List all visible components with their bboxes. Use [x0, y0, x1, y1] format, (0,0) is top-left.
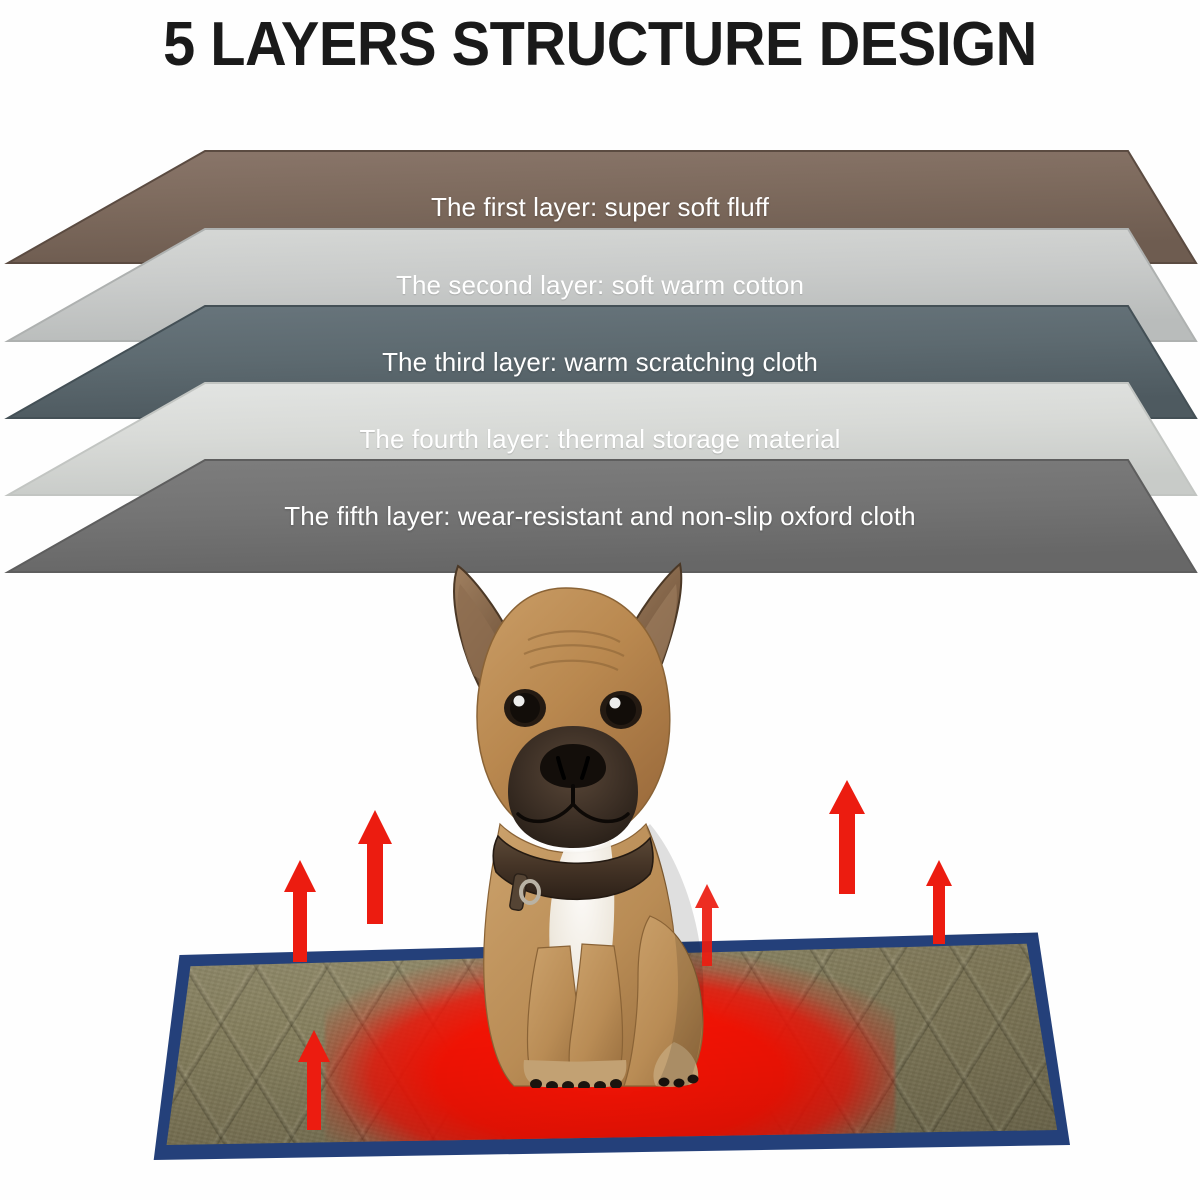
layer-label-5: The fifth layer: wear-resistant and non-…: [284, 501, 915, 532]
heat-arrow-2: [357, 808, 393, 926]
french-bulldog: [388, 548, 768, 1088]
layer-label-3: The third layer: warm scratching cloth: [382, 347, 818, 378]
infographic-page: 5 LAYERS STRUCTURE DESIGN The first laye…: [0, 0, 1200, 1200]
heat-arrow-5: [925, 858, 953, 946]
heat-arrow-1: [283, 858, 317, 964]
layer-label-4: The fourth layer: thermal storage materi…: [359, 424, 840, 455]
dog-nose: [540, 744, 606, 788]
layer-label-1: The first layer: super soft fluff: [431, 192, 769, 223]
product-photo: [0, 540, 1200, 1200]
heat-arrow-4: [828, 778, 866, 896]
heat-arrow-6: [694, 882, 720, 968]
layer-stack: The first layer: super soft fluff The se…: [0, 0, 1200, 545]
heat-arrow-3: [297, 1028, 331, 1132]
layer-label-2: The second layer: soft warm cotton: [396, 270, 804, 301]
